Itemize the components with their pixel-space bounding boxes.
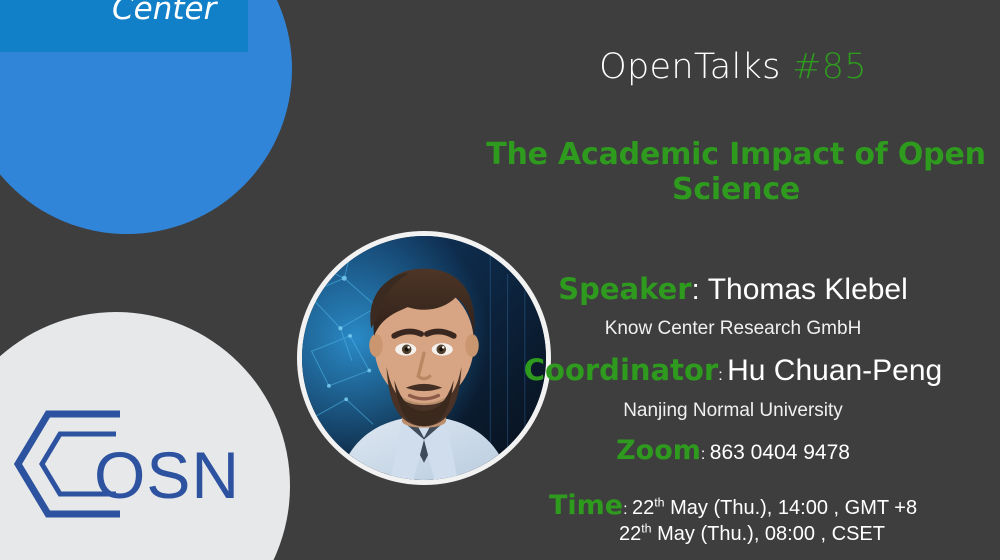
poster-content: OpenTalks #85 The Academic Impact of Ope…: [466, 0, 1000, 560]
talk-title: The Academic Impact of Open Science: [472, 137, 1000, 207]
coordinator-name: Hu Chuan-Peng: [727, 354, 942, 387]
time-day-suffix-2: th: [641, 521, 651, 535]
time-day-2: 22: [619, 523, 641, 545]
talk-series-heading: OpenTalks #85: [466, 47, 1000, 87]
osn-logo: OSN: [0, 312, 290, 560]
know-center-logo-inner: KNOW Center: [0, 0, 246, 33]
time-label: Time: [549, 490, 623, 521]
osn-wordmark: OSN: [94, 442, 240, 508]
time-day-1: 22: [632, 497, 654, 519]
zoom-colon: :: [701, 446, 705, 463]
zoom-label: Zoom: [616, 435, 701, 466]
series-number: #85: [792, 47, 867, 87]
speaker-line: Speaker: Thomas Klebel: [466, 272, 1000, 307]
time-value-secondary: 22th May (Thu.), 08:00 , CSET: [581, 523, 885, 545]
coordinator-affiliation: Nanjing Normal University: [466, 400, 1000, 422]
time-rest-1: May (Thu.), 14:00 , GMT +8: [665, 497, 918, 519]
time-line-primary: Time: 22th May (Thu.), 14:00 , GMT +8: [466, 490, 1000, 521]
osn-logo-mark: OSN: [12, 408, 222, 526]
know-center-logo: KNOW Center: [0, 0, 292, 234]
know-subtitle: Center: [112, 0, 216, 25]
speaker-name: Thomas Klebel: [708, 273, 908, 306]
time-rest-2: May (Thu.), 08:00 , CSET: [652, 523, 885, 545]
zoom-meeting-id[interactable]: 863 0404 9478: [710, 441, 850, 464]
time-day-suffix-1: th: [654, 495, 664, 509]
speaker-colon: :: [692, 274, 700, 306]
time-line-secondary: 22th May (Thu.), 08:00 , CSET: [466, 523, 1000, 546]
speaker-affiliation: Know Center Research GmbH: [466, 318, 1000, 340]
series-name: OpenTalks: [599, 47, 780, 87]
webinar-poster: KNOW Center OSN: [0, 0, 1000, 560]
coordinator-line: Coordinator: Hu Chuan-Peng: [466, 353, 1000, 388]
coordinator-label: Coordinator: [524, 353, 718, 387]
coordinator-colon: :: [718, 367, 722, 384]
speaker-label: Speaker: [558, 272, 691, 306]
time-colon: :: [623, 501, 627, 518]
time-value-primary: 22th May (Thu.), 14:00 , GMT +8: [632, 497, 917, 519]
zoom-line: Zoom: 863 0404 9478: [466, 435, 1000, 466]
